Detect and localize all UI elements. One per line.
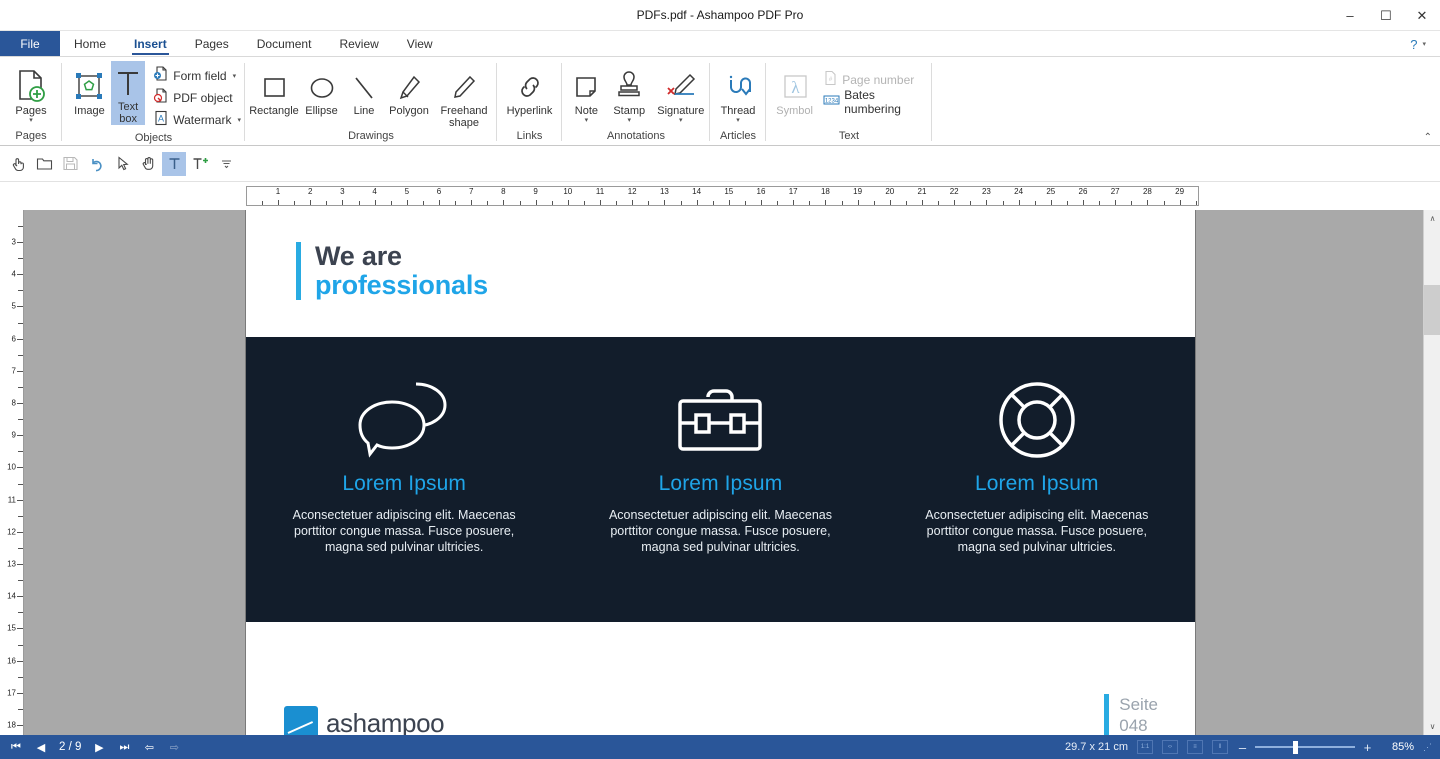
feature-column-3: Lorem Ipsum Aconsectetuer adipiscing eli… — [912, 367, 1162, 555]
ribbon-button-rectangle[interactable]: Rectangle — [249, 61, 299, 117]
page-headline: We are professionals — [296, 242, 488, 300]
ruler-label: 28 — [1143, 187, 1152, 197]
ruler-tick — [471, 200, 472, 205]
ruler-label: 5 — [405, 187, 409, 197]
chat-bubbles-icon — [279, 367, 529, 472]
pan-hand-icon[interactable] — [136, 152, 160, 176]
ruler-tick-half — [552, 201, 553, 205]
ruler-tick-half — [18, 580, 23, 581]
ruler-tick-half — [18, 290, 23, 291]
ashampoo-logo-text: ashampoo — [326, 708, 444, 736]
ashampoo-logo-mark-icon — [284, 706, 318, 735]
ruler-tick — [664, 200, 665, 205]
scroll-down-button[interactable]: ∨ — [1424, 718, 1440, 735]
menu-bar: File Home Insert Pages Document Review V… — [0, 31, 1440, 57]
quick-toolbar — [0, 146, 1440, 182]
ribbon-button-hyperlink[interactable]: Hyperlink — [499, 61, 561, 117]
undo-icon[interactable] — [84, 152, 108, 176]
ruler-label: 18 — [821, 187, 830, 197]
ruler-label: 2 — [308, 187, 312, 197]
ribbon-group-drawings: Rectangle Ellipse Line — [245, 57, 497, 146]
ribbon-button-form-field[interactable]: Form field ▾ — [149, 65, 245, 87]
ruler-tick-half — [616, 201, 617, 205]
note-icon — [571, 63, 601, 103]
ruler-tick — [17, 596, 23, 597]
ruler-label: 24 — [1014, 187, 1023, 197]
ruler-tick-half — [18, 226, 23, 227]
ruler-label: 4 — [12, 270, 16, 279]
ruler-tick-half — [1164, 201, 1165, 205]
minimize-button[interactable]: – — [1332, 0, 1368, 31]
ribbon-button-hyperlink-label: Hyperlink — [507, 105, 553, 117]
ruler-tick — [17, 564, 23, 565]
ribbon-group-articles: Thread ▾ Articles — [710, 57, 766, 146]
ribbon-button-freehand-shape[interactable]: Freehand shape — [434, 61, 494, 129]
ruler-tick-half — [18, 355, 23, 356]
ruler-tick — [17, 532, 23, 533]
ribbon-button-thread-label: Thread — [721, 105, 756, 117]
ruler-tick — [761, 200, 762, 205]
view-mode-actual-size[interactable]: 1:1 — [1137, 740, 1153, 754]
ruler-tick-half — [681, 201, 682, 205]
page-footer-section: ashampoo Seite 048 — [246, 622, 1195, 735]
ruler-label: 1 — [276, 187, 280, 197]
ruler-label: 7 — [469, 187, 473, 197]
freehand-shape-icon — [449, 63, 479, 103]
zoom-control: – + — [1237, 740, 1373, 755]
ruler-tick-half — [18, 419, 23, 420]
document-canvas[interactable]: We are professionals Lorem Ipsum Aconsec… — [24, 210, 1423, 735]
ribbon-button-rectangle-label: Rectangle — [249, 105, 299, 117]
chevron-down-icon[interactable]: ▾ — [736, 117, 740, 125]
ruler-tick — [1083, 200, 1084, 205]
feature-column-2: Lorem Ipsum Aconsectetuer adipiscing eli… — [595, 367, 845, 555]
ribbon: Pages ▾ Pages — [0, 57, 1440, 146]
add-text-icon[interactable] — [188, 152, 212, 176]
ruler-tick — [1180, 200, 1181, 205]
more-tools-icon[interactable] — [214, 152, 238, 176]
ruler-tick-half — [906, 201, 907, 205]
ellipse-icon — [307, 63, 337, 103]
watermark-icon: A — [153, 110, 169, 131]
ribbon-button-pages-label: Pages — [15, 105, 46, 117]
ruler-tick-half — [18, 387, 23, 388]
ruler-tick — [922, 200, 923, 205]
chevron-down-icon[interactable]: ▾ — [237, 116, 241, 124]
ruler-label: 19 — [853, 187, 862, 197]
ruler-tick-half — [487, 201, 488, 205]
chevron-down-icon[interactable]: ▾ — [29, 117, 33, 125]
horizontal-ruler-strip: 1234567891011121314151617181920212223242… — [246, 186, 1199, 206]
footer-page-number: 048 — [1119, 715, 1158, 735]
scroll-up-button[interactable]: ∧ — [1424, 210, 1440, 227]
ruler-tick-half — [18, 677, 23, 678]
headline-accent-bar — [296, 242, 301, 300]
ruler-tick-half — [1035, 201, 1036, 205]
zoom-in-button[interactable]: + — [1362, 740, 1373, 755]
ruler-tick-half — [842, 201, 843, 205]
ruler-label: 29 — [1175, 187, 1184, 197]
ruler-label: 9 — [12, 431, 16, 440]
ruler-tick — [375, 200, 376, 205]
ribbon-button-note[interactable]: Note ▾ — [566, 61, 607, 125]
ruler-label: 13 — [660, 187, 669, 197]
ruler-label: 4 — [372, 187, 376, 197]
hyperlink-icon — [515, 63, 545, 103]
ruler-label: 10 — [563, 187, 572, 197]
ribbon-button-polygon-label: Polygon — [389, 105, 429, 117]
feature-title-3: Lorem Ipsum — [912, 472, 1162, 496]
ruler-tick-half — [938, 201, 939, 205]
image-icon — [72, 63, 106, 103]
ruler-label: 22 — [950, 187, 959, 197]
view-mode-two-page[interactable]: ‖ — [1212, 740, 1228, 754]
chevron-down-icon[interactable]: ▾ — [1422, 40, 1426, 48]
ruler-tick-half — [455, 201, 456, 205]
add-page-icon — [16, 63, 46, 103]
stamp-icon — [614, 63, 644, 103]
ruler-label: 16 — [757, 187, 766, 197]
ribbon-group-text: λ Symbol # Page number — [766, 57, 932, 146]
ruler-tick-half — [326, 201, 327, 205]
chevron-down-icon[interactable]: ▾ — [627, 117, 631, 125]
ruler-tick-half — [18, 484, 23, 485]
ruler-tick-half — [18, 323, 23, 324]
ruler-tick-half — [18, 516, 23, 517]
ruler-tick-half — [648, 201, 649, 205]
previous-page-button[interactable]: ◀ — [31, 738, 51, 756]
ribbon-button-line[interactable]: Line — [344, 61, 384, 117]
maximize-button[interactable]: ☐ — [1368, 0, 1404, 31]
tab-view[interactable]: View — [393, 31, 447, 56]
pdf-object-icon — [153, 88, 169, 109]
ribbon-button-image[interactable]: Image — [68, 61, 111, 117]
zoom-slider[interactable] — [1255, 740, 1355, 754]
feature-title-2: Lorem Ipsum — [595, 472, 845, 496]
ruler-tick — [858, 200, 859, 205]
view-mode-single-page[interactable]: ≡ — [1187, 740, 1203, 754]
ruler-tick-half — [1099, 201, 1100, 205]
ruler-label: 18 — [7, 721, 16, 730]
ruler-tick — [310, 200, 311, 205]
ribbon-button-stamp[interactable]: Stamp ▾ — [607, 61, 652, 125]
ribbon-button-polygon[interactable]: Polygon — [384, 61, 434, 117]
page-indicator: 2 / 9 — [56, 741, 84, 753]
ruler-tick — [17, 725, 23, 726]
ribbon-button-pdf-object[interactable]: PDF object — [149, 87, 245, 109]
ribbon-button-image-label: Image — [74, 105, 105, 117]
page-footer-number: Seite 048 — [1104, 694, 1158, 735]
ribbon-button-stamp-label: Stamp — [613, 105, 645, 117]
ruler-tick — [986, 200, 987, 205]
ribbon-button-symbol[interactable]: λ Symbol — [772, 61, 817, 117]
ribbon-button-thread[interactable]: Thread ▾ — [711, 61, 765, 125]
ruler-tick-half — [18, 451, 23, 452]
feature-body-2: Aconsectetuer adipiscing elit. Maecenas … — [595, 507, 845, 555]
ruler-tick-half — [745, 201, 746, 205]
ribbon-button-watermark[interactable]: A Watermark ▾ — [149, 109, 245, 131]
ruler-label: 17 — [7, 688, 16, 697]
scrollbar-thumb[interactable] — [1424, 285, 1440, 335]
signature-icon — [664, 63, 698, 103]
ribbon-group-objects: Image Text box — [62, 57, 245, 146]
svg-text:A: A — [158, 113, 164, 123]
ruler-tick-half — [18, 258, 23, 259]
ruler-tick-half — [1131, 201, 1132, 205]
ruler-label: 7 — [12, 366, 16, 375]
ruler-label: 3 — [340, 187, 344, 197]
collapse-ribbon-button[interactable]: ⌃ — [1424, 132, 1432, 143]
ribbon-button-note-label: Note — [575, 105, 598, 117]
app-window: PDFs.pdf - Ashampoo PDF Pro – ☐ ✕ File H… — [0, 0, 1440, 759]
ruler-tick — [536, 200, 537, 205]
ruler-tick-half — [18, 645, 23, 646]
ribbon-button-text-box[interactable]: Text box — [111, 61, 145, 125]
ruler-tick — [17, 371, 23, 372]
page-header-section: We are professionals — [246, 210, 1195, 337]
thread-icon — [723, 63, 753, 103]
ruler-tick-half — [294, 201, 295, 205]
ribbon-button-bates-numbering-label: Bates numbering — [844, 88, 928, 116]
ribbon-button-ellipse[interactable]: Ellipse — [299, 61, 344, 117]
ruler-tick-half — [18, 548, 23, 549]
ruler-tick — [278, 200, 279, 205]
ruler-tick — [17, 661, 23, 662]
bates-numbering-icon: 1234 — [823, 93, 840, 112]
lifebuoy-icon — [912, 367, 1162, 472]
ruler-tick-half — [262, 201, 263, 205]
ribbon-button-pdf-object-label: PDF object — [173, 91, 232, 105]
tab-insert[interactable]: Insert — [120, 31, 181, 56]
ruler-tick — [407, 200, 408, 205]
ruler-tick — [17, 339, 23, 340]
page-number-icon: # — [823, 70, 838, 91]
ruler-tick-half — [970, 201, 971, 205]
last-page-button[interactable]: ⏭ — [114, 738, 134, 756]
ruler-tick — [17, 274, 23, 275]
ruler-tick — [954, 200, 955, 205]
ruler-tick — [632, 200, 633, 205]
first-page-button[interactable]: ⏮ — [6, 738, 26, 756]
ruler-tick — [890, 200, 891, 205]
ruler-label: 6 — [437, 187, 441, 197]
ruler-tick — [697, 200, 698, 205]
status-bar: ⏮ ◀ 2 / 9 ▶ ⏭ ⇦ ⇨ 29.7 x 21 cm 1:1 ‹› ≡ … — [0, 735, 1440, 759]
ruler-tick-half — [18, 709, 23, 710]
ruler-tick — [729, 200, 730, 205]
line-icon — [349, 63, 379, 103]
help-control[interactable]: ? ▾ — [1410, 31, 1426, 57]
tab-file[interactable]: File — [0, 31, 60, 56]
feature-body-1: Aconsectetuer adipiscing elit. Maecenas … — [279, 507, 529, 555]
ruler-tick-half — [391, 201, 392, 205]
ribbon-button-pages[interactable]: Pages ▾ — [3, 61, 59, 125]
ruler-label: 26 — [1079, 187, 1088, 197]
ruler-label: 9 — [533, 187, 537, 197]
chevron-down-icon[interactable]: ▾ — [585, 117, 589, 125]
close-button[interactable]: ✕ — [1404, 0, 1440, 31]
ashampoo-logo: ashampoo — [284, 706, 444, 735]
ruler-tick-half — [777, 201, 778, 205]
feature-body-3: Aconsectetuer adipiscing elit. Maecenas … — [912, 507, 1162, 555]
ruler-tick — [1115, 200, 1116, 205]
symbol-lambda-icon: λ — [779, 63, 811, 103]
polygon-icon — [394, 63, 424, 103]
page-dimensions: 29.7 x 21 cm — [1065, 741, 1128, 753]
next-page-button[interactable]: ▶ — [89, 738, 109, 756]
ribbon-button-watermark-label: Watermark — [173, 113, 231, 127]
ruler-label: 25 — [1046, 187, 1055, 197]
ruler-label: 20 — [885, 187, 894, 197]
chevron-down-icon[interactable]: ▾ — [679, 117, 683, 125]
ribbon-button-page-number-label: Page number — [842, 73, 914, 87]
ruler-tick — [1147, 200, 1148, 205]
ruler-tick-half — [18, 612, 23, 613]
ruler-tick — [17, 306, 23, 307]
ribbon-group-links: Hyperlink Links — [497, 57, 562, 146]
ruler-label: 15 — [7, 624, 16, 633]
headline-line-2: professionals — [315, 271, 488, 300]
ruler-label: 16 — [7, 656, 16, 665]
pdf-page[interactable]: We are professionals Lorem Ipsum Aconsec… — [246, 210, 1195, 735]
ruler-label: 6 — [12, 334, 16, 343]
ribbon-button-symbol-label: Symbol — [776, 105, 813, 117]
ribbon-button-signature-label: Signature — [657, 105, 704, 117]
ruler-tick — [439, 200, 440, 205]
ruler-label: 21 — [918, 187, 927, 197]
ruler-label: 13 — [7, 560, 16, 569]
ribbon-group-pages: Pages ▾ Pages — [0, 57, 62, 146]
ribbon-group-label-objects: Objects — [62, 131, 245, 146]
zoom-level: 85% — [1382, 741, 1414, 753]
page-feature-section: Lorem Ipsum Aconsectetuer adipiscing eli… — [246, 337, 1195, 622]
ruler-label: 14 — [692, 187, 701, 197]
hand-pointer-icon[interactable] — [6, 152, 30, 176]
ruler-tick — [1051, 200, 1052, 205]
view-mode-fit-width[interactable]: ‹› — [1162, 740, 1178, 754]
ruler-tick — [793, 200, 794, 205]
select-arrow-icon[interactable] — [110, 152, 134, 176]
ruler-tick — [1019, 200, 1020, 205]
ruler-tick-half — [809, 201, 810, 205]
form-field-icon — [153, 66, 169, 87]
ruler-tick — [503, 200, 504, 205]
ruler-label: 15 — [724, 187, 733, 197]
ruler-tick-half — [520, 201, 521, 205]
ribbon-button-line-label: Line — [354, 105, 375, 117]
feature-title-1: Lorem Ipsum — [279, 472, 529, 496]
briefcase-icon — [595, 367, 845, 472]
ribbon-button-form-field-label: Form field — [173, 69, 226, 83]
headline-line-1: We are — [315, 242, 488, 271]
ruler-label: 27 — [1111, 187, 1120, 197]
tab-document[interactable]: Document — [243, 31, 326, 56]
ruler-tick — [17, 467, 23, 468]
divider — [931, 63, 932, 141]
ruler-tick — [17, 242, 23, 243]
ribbon-button-signature[interactable]: Signature ▾ — [652, 61, 710, 125]
ruler-tick-half — [874, 201, 875, 205]
chevron-down-icon[interactable]: ▾ — [233, 72, 237, 80]
title-bar: PDFs.pdf - Ashampoo PDF Pro – ☐ ✕ — [0, 0, 1440, 31]
ribbon-group-label-drawings: Drawings — [245, 129, 497, 146]
ribbon-button-freehand-shape-label: Freehand shape — [434, 105, 494, 129]
ruler-label: 8 — [12, 399, 16, 408]
forward-view-button[interactable]: ⇨ — [164, 738, 184, 756]
ribbon-group-label-pages: Pages — [0, 129, 62, 146]
tab-pages[interactable]: Pages — [181, 31, 243, 56]
svg-text:λ: λ — [791, 78, 800, 97]
svg-text:1234: 1234 — [825, 98, 839, 104]
ribbon-group-label-annotations: Annotations — [562, 129, 710, 146]
ribbon-group-label-links: Links — [497, 129, 562, 146]
ribbon-button-ellipse-label: Ellipse — [305, 105, 337, 117]
ruler-tick — [600, 200, 601, 205]
ruler-tick — [17, 693, 23, 694]
ribbon-button-bates-numbering[interactable]: 1234 Bates numbering — [819, 91, 932, 113]
tab-home[interactable]: Home — [60, 31, 120, 56]
page-navigation: ⏮ ◀ 2 / 9 ▶ ⏭ ⇦ ⇨ — [0, 738, 184, 756]
ruler-tick — [17, 500, 23, 501]
ruler-label: 8 — [501, 187, 505, 197]
ruler-tick-half — [1067, 201, 1068, 205]
ribbon-group-annotations: Note ▾ Stamp ▾ — [562, 57, 710, 146]
tab-review[interactable]: Review — [325, 31, 392, 56]
ruler-label: 12 — [7, 527, 16, 536]
ruler-tick-half — [584, 201, 585, 205]
zoom-slider-knob[interactable] — [1293, 741, 1298, 754]
text-box-icon — [113, 63, 143, 99]
text-tool-icon[interactable] — [162, 152, 186, 176]
window-title: PDFs.pdf - Ashampoo PDF Pro — [637, 8, 804, 22]
ruler-tick — [17, 403, 23, 404]
ribbon-group-label-text: Text — [766, 129, 932, 146]
zoom-out-button[interactable]: – — [1237, 740, 1248, 755]
status-right-cluster: 29.7 x 21 cm 1:1 ‹› ≡ ‖ – + 85% ⋰ — [1065, 740, 1440, 755]
ruler-label: 10 — [7, 463, 16, 472]
open-folder-icon[interactable] — [32, 152, 56, 176]
window-controls: – ☐ ✕ — [1332, 0, 1440, 31]
ruler-tick — [17, 435, 23, 436]
ruler-tick-half — [1003, 201, 1004, 205]
ruler-tick-half — [359, 201, 360, 205]
vertical-scrollbar[interactable]: ∧ ∨ — [1423, 210, 1440, 735]
zoom-slider-track — [1255, 746, 1355, 748]
rectangle-icon — [259, 63, 289, 103]
feature-column-1: Lorem Ipsum Aconsectetuer adipiscing eli… — [279, 367, 529, 555]
help-icon[interactable]: ? — [1410, 37, 1417, 52]
ruler-tick — [342, 200, 343, 205]
save-icon[interactable] — [58, 152, 82, 176]
ruler-label: 17 — [789, 187, 798, 197]
ruler-tick — [17, 628, 23, 629]
ruler-tick-half — [423, 201, 424, 205]
ruler-label: 11 — [8, 495, 16, 504]
ribbon-button-text-box-label: Text box — [111, 101, 145, 125]
ribbon-group-label-articles: Articles — [710, 129, 766, 146]
footer-page-label: Seite — [1119, 694, 1158, 715]
ruler-tick — [825, 200, 826, 205]
ruler-tick-half — [1196, 201, 1197, 205]
footer-accent-bar — [1104, 694, 1109, 735]
ruler-label: 23 — [982, 187, 991, 197]
resize-grip[interactable]: ⋰ — [1423, 742, 1432, 753]
horizontal-ruler[interactable]: 1234567891011121314151617181920212223242… — [0, 182, 1440, 210]
back-view-button[interactable]: ⇦ — [139, 738, 159, 756]
vertical-ruler[interactable]: 3456789101112131415161718 — [0, 210, 24, 735]
ruler-label: 5 — [12, 302, 16, 311]
ruler-label: 12 — [628, 187, 637, 197]
